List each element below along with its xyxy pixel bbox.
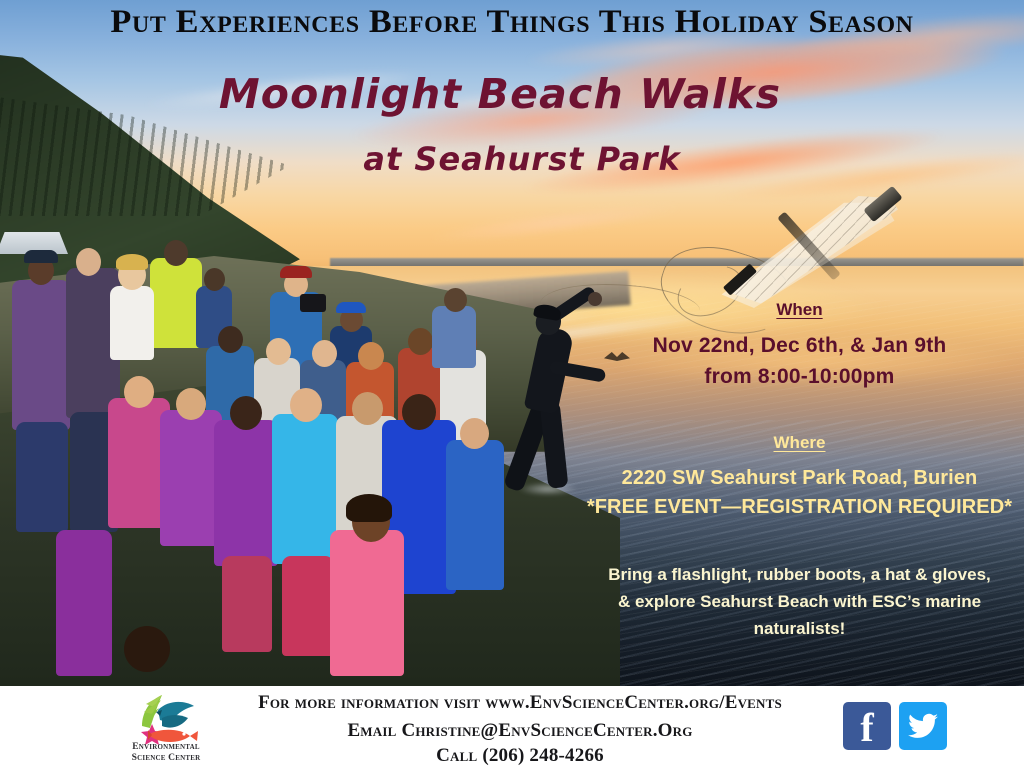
person-head [204,268,225,291]
person [272,414,338,564]
person [56,530,112,676]
where-address: 2220 SW Seahurst Park Road, Burien [575,467,1024,490]
person-head [460,418,489,449]
child-hair [116,254,148,270]
bring-line-1: Bring a flashlight, rubber boots, a hat … [575,565,1024,585]
child-head [124,626,170,672]
when-time: from 8:00-10:00pm [575,365,1024,389]
child [330,530,404,676]
person-legs [16,422,68,532]
footer-contact-block: For more information visit www.EnvScienc… [200,686,840,767]
where-registration-note: *FREE EVENT—REGISTRATION REQUIRED* [575,496,1024,519]
person [12,280,70,430]
camera [300,294,326,312]
person-legs [282,556,334,656]
person [214,420,278,566]
figure-front-leg [540,401,569,489]
person-head [176,388,206,420]
person-head [290,388,322,422]
when-heading: When [575,300,1024,320]
person-head [352,392,383,425]
social-links: f [843,702,947,752]
person-head [408,328,433,355]
person-hat [24,250,58,263]
person-head [312,340,337,367]
person-head [358,342,384,370]
child-carried [110,286,154,360]
logo-icon [128,690,204,750]
page-title: Put Experiences Before Things This Holid… [0,4,1024,41]
person-head [218,326,243,353]
red-cap [280,266,312,278]
person [446,440,504,590]
footer-website-line[interactable]: For more information visit www.EnvScienc… [200,692,840,714]
cast-net [718,196,898,308]
bring-line-2: & explore Seahurst Beach with ESC’s mari… [575,592,1024,612]
event-title-block: Moonlight Beach Walks at Seahurst Park [0,70,1024,178]
where-heading: Where [575,433,1024,453]
event-title-line2: at Seahurst Park [10,140,1024,178]
person-head [164,240,188,266]
when-dates: Nov 22nd, Dec 6th, & Jan 9th [575,334,1024,358]
facebook-button[interactable]: f [843,702,891,750]
person-head [266,338,291,365]
person-head [124,376,154,408]
person-head [230,396,262,430]
person-head [402,394,436,430]
event-title-line1: Moonlight Beach Walks [0,70,1012,118]
child-hair [346,494,392,522]
footer-email-line[interactable]: Email Christine@EnvScienceCenter.Org [200,720,840,742]
bring-line-3: naturalists! [575,619,1024,639]
person-head [76,248,101,276]
crowd-of-participants [0,230,520,686]
blue-cap [336,302,366,313]
person-legs [222,556,272,652]
event-details-column: When Nov 22nd, Dec 6th, & Jan 9th from 8… [575,300,1024,639]
footer-phone-line[interactable]: Call (206) 248-4266 [200,745,840,767]
person-head [444,288,467,312]
person [150,258,202,348]
twitter-button[interactable] [899,702,947,750]
twitter-icon [899,702,947,750]
facebook-icon: f [843,702,891,750]
poster-canvas: Put Experiences Before Things This Holid… [0,0,1024,772]
person [160,410,222,546]
person [432,306,476,368]
